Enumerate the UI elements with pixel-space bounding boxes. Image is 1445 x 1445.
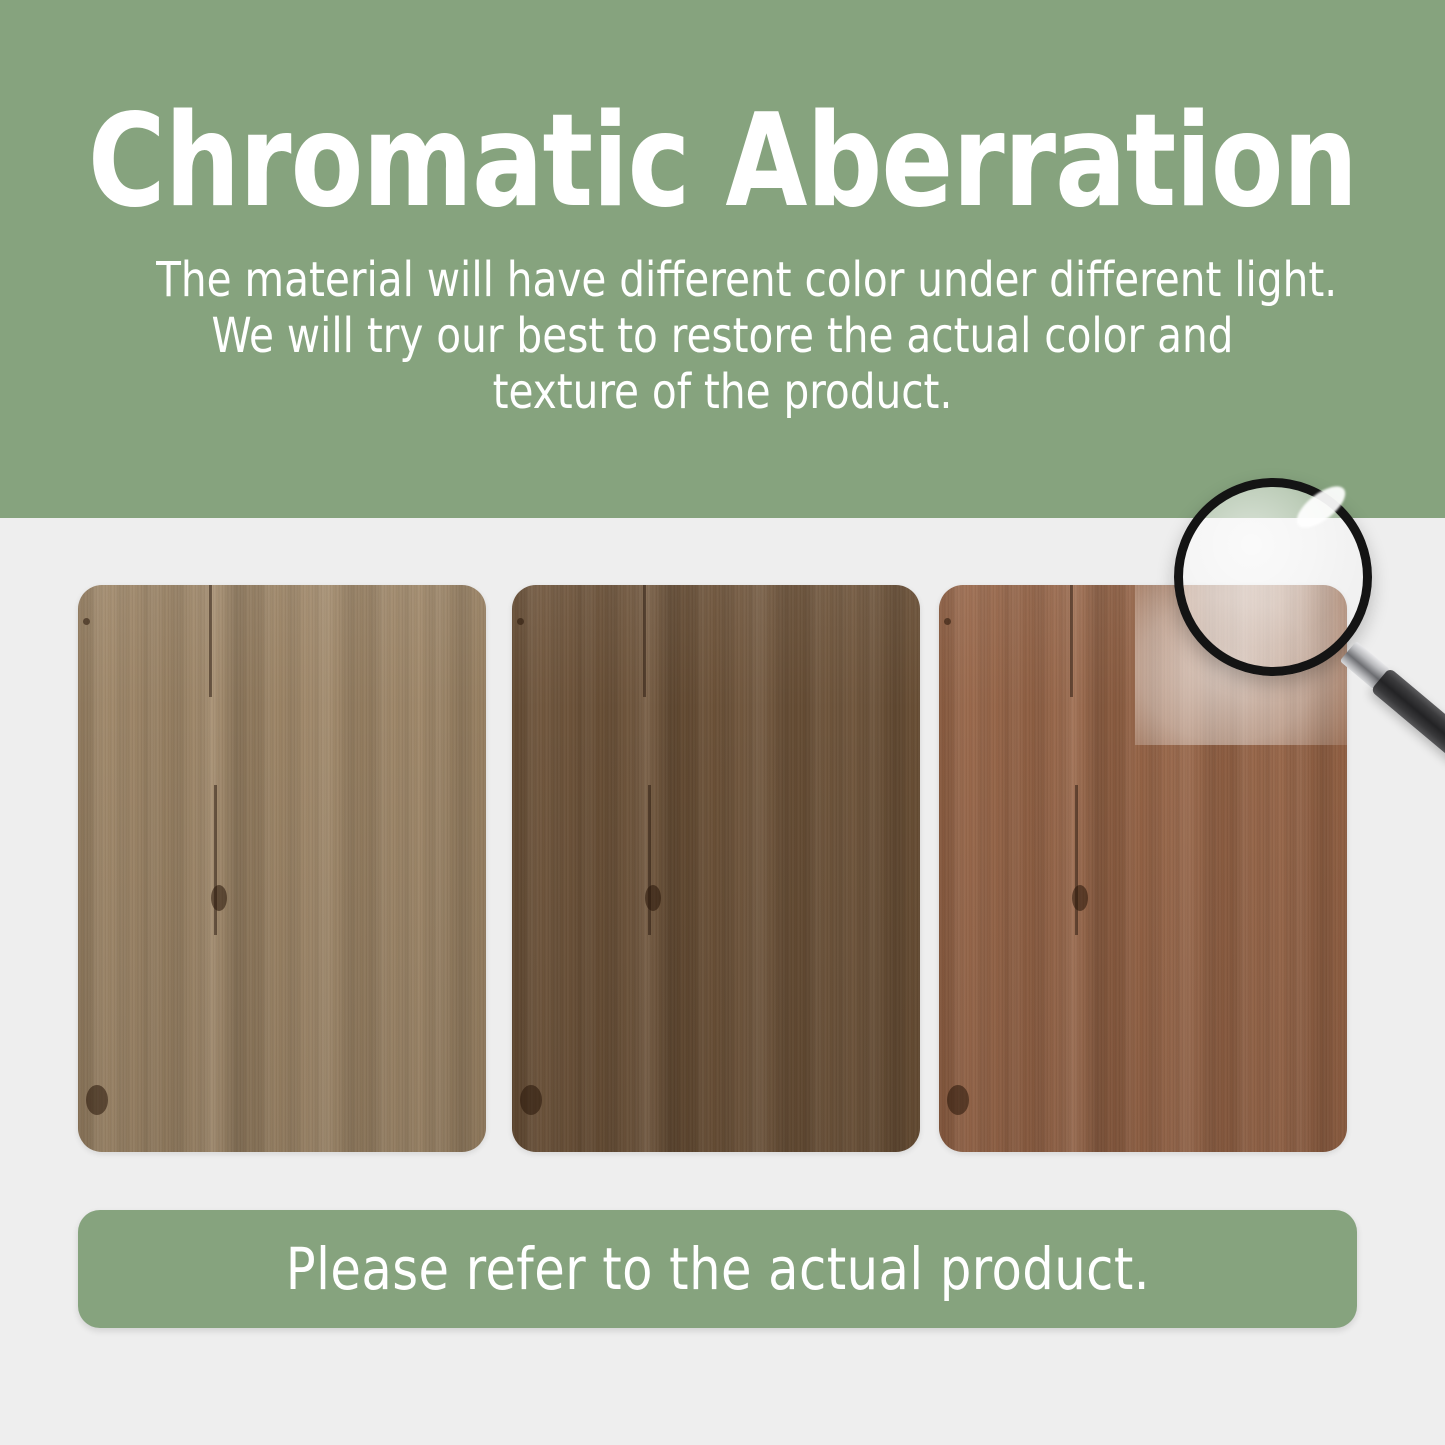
wood-swatch-red-oak[interactable] [939, 585, 1347, 1152]
wood-crack [643, 585, 646, 697]
wood-knot [517, 618, 524, 625]
wood-shading [512, 585, 920, 1152]
wood-knot [211, 885, 227, 911]
page-subtitle: The material will have different color u… [156, 252, 1289, 420]
wood-knot [1072, 885, 1088, 911]
wood-texture [78, 585, 486, 1152]
wood-crack [648, 785, 651, 935]
wood-swatch-light-oak[interactable] [78, 585, 486, 1152]
wood-shading [78, 585, 486, 1152]
subtitle-line-3: texture of the product. [156, 364, 1289, 420]
wood-texture [939, 585, 1347, 1152]
wood-swatch-dark-walnut[interactable] [512, 585, 920, 1152]
wood-crack [214, 785, 217, 935]
wood-swatch-row [0, 518, 1445, 1212]
wood-knot [83, 618, 90, 625]
subtitle-line-2: We will try our best to restore the actu… [156, 308, 1289, 364]
wood-knot [947, 1085, 969, 1115]
page-title: Chromatic Aberration [58, 98, 1387, 226]
header-banner: Chromatic Aberration The material will h… [0, 0, 1445, 518]
magnified-highlight-region [1135, 585, 1347, 745]
disclaimer-banner: Please refer to the actual product. [78, 1210, 1357, 1328]
disclaimer-text: Please refer to the actual product. [285, 1235, 1149, 1303]
wood-crack [209, 585, 212, 697]
wood-knot [645, 885, 661, 911]
wood-texture [512, 585, 920, 1152]
wood-crack [1075, 785, 1078, 935]
subtitle-line-1: The material will have different color u… [156, 252, 1289, 308]
wood-knot [944, 618, 951, 625]
wood-knot [520, 1085, 542, 1115]
wood-knot [86, 1085, 108, 1115]
wood-crack [1070, 585, 1073, 697]
